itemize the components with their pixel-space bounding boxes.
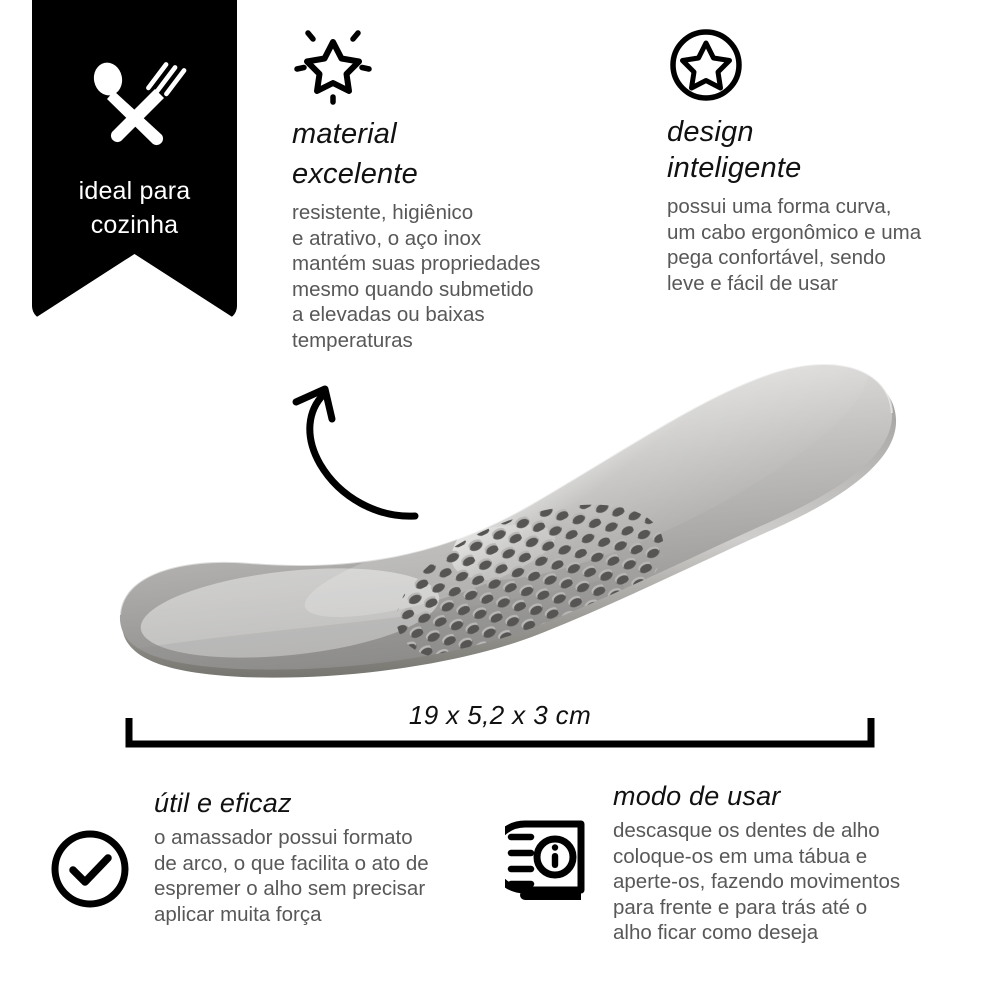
feature-modo-de-usar: modo de usar descasque os dentes de alho…	[505, 778, 985, 946]
feature-title: design inteligente	[667, 114, 987, 186]
feature-icon-wrap	[48, 827, 134, 916]
feature-design-inteligente: design inteligente possui uma forma curv…	[667, 26, 987, 296]
feature-title: modo de usar	[613, 778, 985, 814]
feature-body: descasque os dentes de alho coloque-os e…	[613, 818, 985, 946]
ideal-para-cozinha-banner: ideal para cozinha	[32, 0, 237, 320]
feature-material-excelente: material excelente resistente, higiênico…	[292, 24, 592, 353]
ribbon-label: ideal para cozinha	[79, 174, 191, 242]
feature-title: material excelente	[292, 114, 592, 194]
check-circle-icon	[48, 827, 132, 911]
feature-text-wrap: modo de usar descasque os dentes de alho…	[613, 778, 985, 946]
feature-body: possui uma forma curva, um cabo ergonômi…	[667, 194, 987, 296]
star-in-circle-icon	[667, 26, 745, 104]
measurement-bracket-icon	[125, 718, 875, 748]
feature-body: o amassador possui formato de arco, o qu…	[154, 825, 518, 927]
infographic-page: ideal para cozinha material excelente re…	[0, 0, 1000, 1000]
sparkle-star-icon	[292, 24, 374, 106]
feature-title: útil e eficaz	[154, 785, 518, 821]
spoon-and-fork-icon	[83, 62, 187, 148]
feature-util-e-eficaz: útil e eficaz o amassador possui formato…	[48, 785, 518, 927]
dimension-measurement: 19 x 5,2 x 3 cm	[110, 700, 890, 762]
notebook-info-icon	[505, 816, 591, 906]
feature-icon-wrap	[505, 816, 591, 911]
curved-up-arrow-icon	[278, 372, 428, 522]
feature-text-wrap: útil e eficaz o amassador possui formato…	[154, 785, 518, 927]
product-photo-garlic-press	[100, 325, 910, 695]
